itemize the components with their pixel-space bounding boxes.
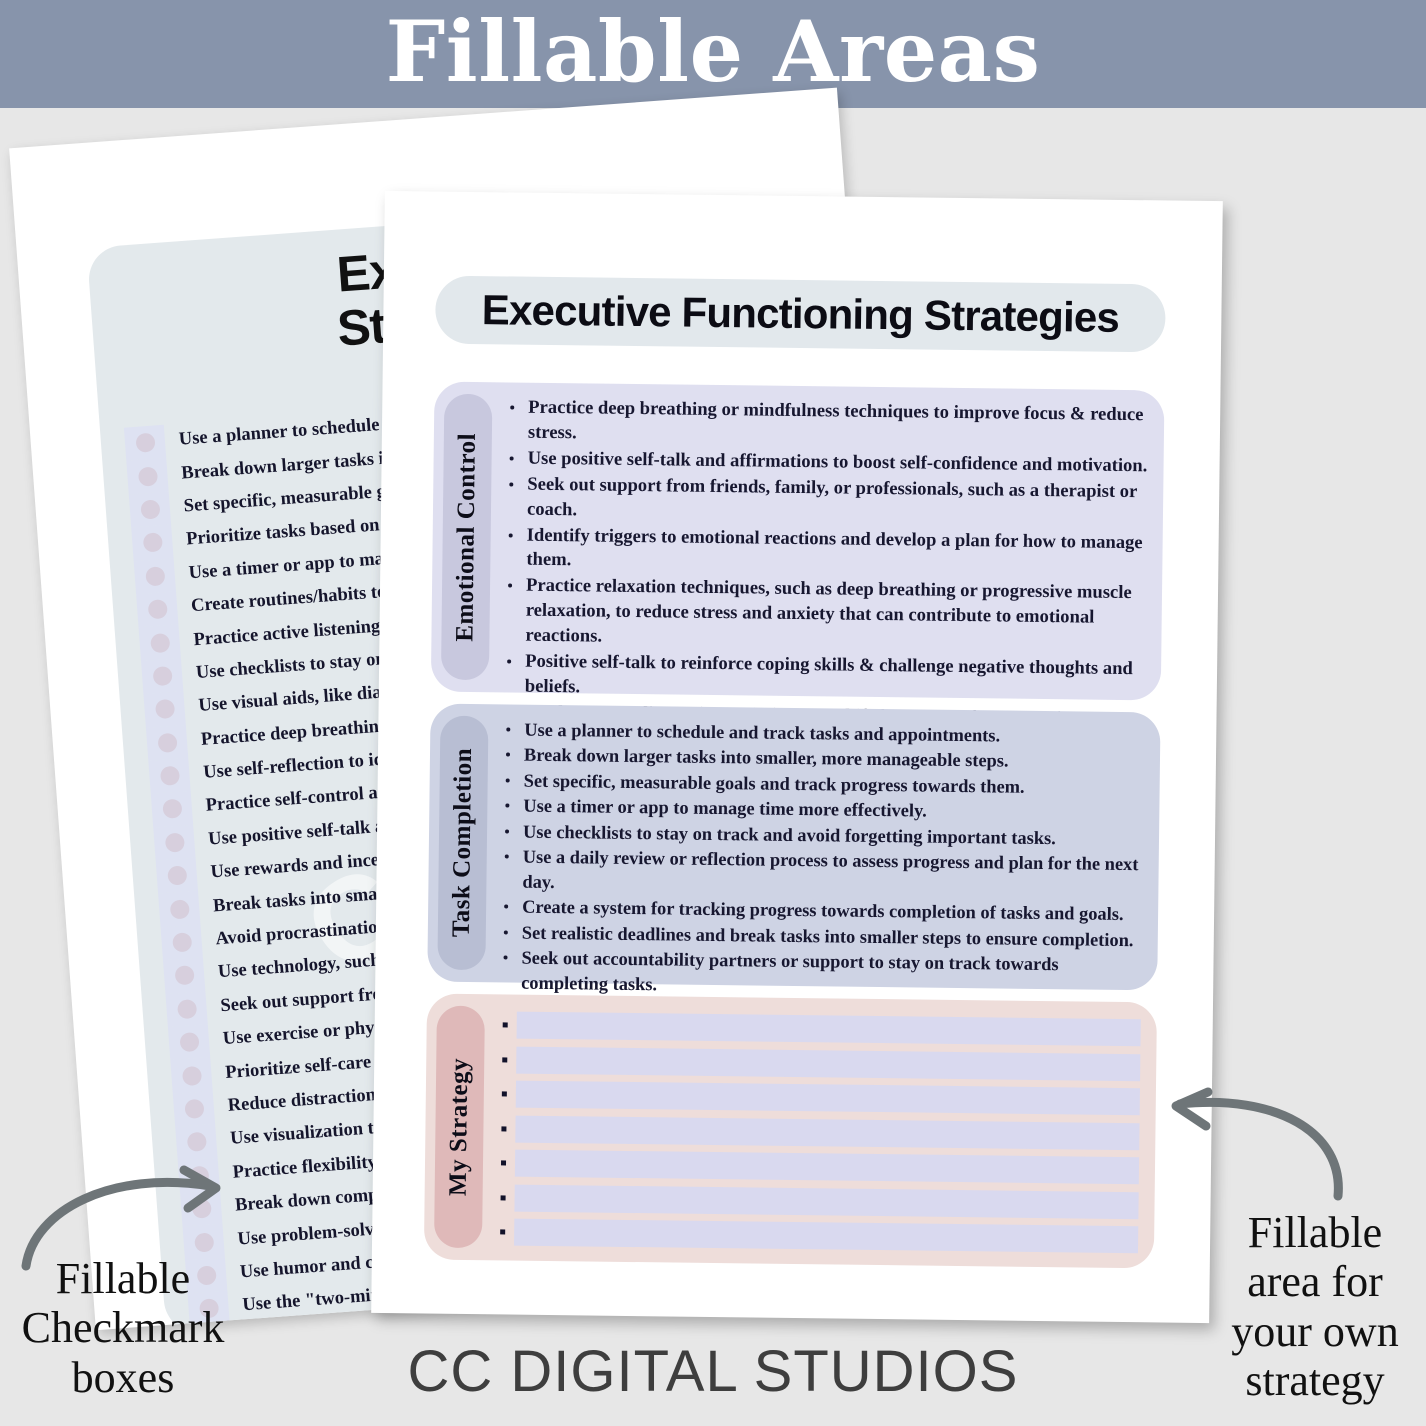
bullet-icon [495, 1160, 511, 1165]
strategy-row [495, 1148, 1139, 1185]
section-tab-emotional-control: Emotional Control [441, 394, 492, 681]
annotation-right-line-1: Fillable [1212, 1208, 1418, 1257]
section-tab-my-strategy: My Strategy [434, 1006, 485, 1249]
bullet-icon [495, 1195, 511, 1200]
annotation-right-line-2: area for [1212, 1257, 1418, 1306]
bullet-icon [496, 1091, 512, 1096]
checkbox-icon[interactable] [163, 958, 205, 994]
checkbox-icon[interactable] [161, 924, 203, 960]
checkbox-icon[interactable] [136, 591, 178, 627]
bullet-item: Seek out support from friends, family, o… [523, 472, 1150, 529]
section-my-strategy: My Strategy [424, 993, 1157, 1268]
annotation-left-line-1: Fillable [8, 1254, 238, 1303]
document-title: Executive Functioning Strategies [482, 286, 1120, 342]
checkbox-icon[interactable] [139, 625, 181, 661]
checkbox-icon[interactable] [156, 858, 198, 894]
checkbox-icon[interactable] [146, 725, 188, 761]
strategy-input-field[interactable] [514, 1219, 1138, 1254]
strategy-input-field[interactable] [515, 1115, 1139, 1150]
strategy-input-field[interactable] [516, 1046, 1140, 1081]
bullet-item: Practice relaxation techniques, such as … [521, 574, 1148, 656]
bullet-icon [497, 1022, 513, 1027]
section-tab-task-completion: Task Completion [437, 716, 488, 971]
bullet-list-emotional-control: Practice deep breathing or mindfulness t… [498, 395, 1150, 758]
bullet-icon [494, 1229, 510, 1234]
checkbox-icon[interactable] [173, 1091, 215, 1127]
back-checklist-label: Use the "two-min [228, 1286, 382, 1318]
strategy-input-field[interactable] [517, 1012, 1141, 1047]
strategy-input-field[interactable] [516, 1081, 1140, 1116]
bullet-item: Practice deep breathing or mindfulness t… [524, 396, 1151, 453]
strategy-input-field[interactable] [514, 1184, 1138, 1219]
checkbox-icon[interactable] [126, 458, 168, 494]
strategy-input-field[interactable] [515, 1150, 1139, 1185]
checkbox-icon[interactable] [153, 824, 195, 860]
section-body-task-completion: Use a planner to schedule and track task… [485, 704, 1160, 990]
front-document-sheet: Executive Functioning Strategies Emotion… [371, 191, 1223, 1323]
checkbox-icon[interactable] [124, 425, 166, 461]
checkbox-icon[interactable] [143, 691, 185, 727]
strategy-row [494, 1217, 1138, 1254]
bullet-list-task-completion: Use a planner to schedule and track task… [495, 717, 1146, 1002]
my-strategy-fillable-area [482, 994, 1157, 1268]
arrow-right-icon [1166, 1092, 1366, 1202]
strategy-row [497, 1010, 1141, 1047]
checkbox-icon[interactable] [175, 1124, 217, 1160]
section-label-task-completion: Task Completion [448, 748, 478, 938]
page-title: Fillable Areas [386, 10, 1041, 94]
section-emotional-control: Emotional Control Practice deep breathin… [431, 382, 1165, 701]
strategy-row [496, 1079, 1140, 1116]
section-label-emotional-control: Emotional Control [451, 432, 482, 641]
header-banner: Fillable Areas [0, 0, 1426, 108]
checkbox-icon[interactable] [165, 991, 207, 1027]
section-body-emotional-control: Practice deep breathing or mindfulness t… [489, 382, 1165, 700]
checkbox-icon[interactable] [151, 791, 193, 827]
checkbox-icon[interactable] [134, 558, 176, 594]
bullet-item: Use a daily review or reflection process… [518, 845, 1145, 902]
back-checklist-label: Practice active re [230, 1319, 381, 1330]
checkbox-icon[interactable] [131, 525, 173, 561]
strategy-row [496, 1045, 1140, 1082]
checkbox-icon[interactable] [141, 658, 183, 694]
document-title-pill: Executive Functioning Strategies [435, 276, 1166, 353]
checkbox-icon[interactable] [170, 1058, 212, 1094]
brand-footer: CC DIGITAL STUDIOS [0, 1338, 1426, 1405]
section-label-my-strategy: My Strategy [445, 1058, 475, 1196]
section-task-completion: Task Completion Use a planner to schedul… [427, 704, 1160, 991]
bullet-item: Identify triggers to emotional reactions… [522, 523, 1149, 580]
checkbox-icon[interactable] [168, 1024, 210, 1060]
strategy-row [494, 1183, 1138, 1220]
checkbox-icon[interactable] [129, 491, 171, 527]
bullet-icon [495, 1126, 511, 1131]
bullet-item: Seek out accountability partners or supp… [517, 946, 1144, 1003]
checkbox-icon[interactable] [158, 891, 200, 927]
bullet-item: Positive self-talk to reinforce coping s… [521, 650, 1148, 707]
bullet-icon [496, 1057, 512, 1062]
strategy-row [495, 1114, 1139, 1151]
checkbox-icon[interactable] [148, 758, 190, 794]
